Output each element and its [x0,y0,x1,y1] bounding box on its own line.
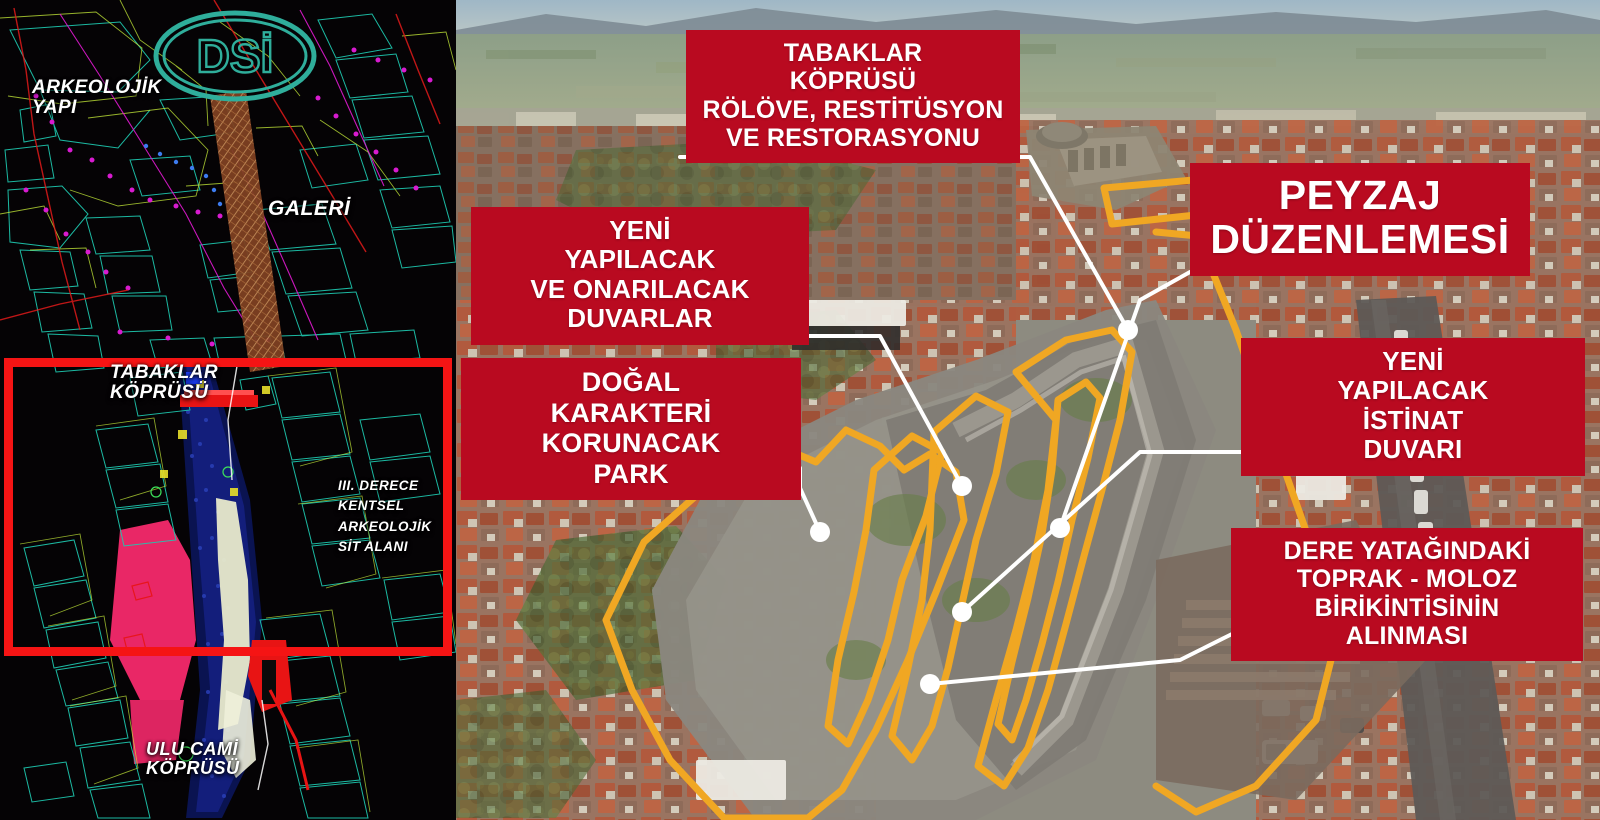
cad-label-sit-alani: III. DERECE KENTSEL ARKEOLOJİK SİT ALANI [338,476,432,557]
dsi-logo-text: DSİ [197,30,274,82]
presentation-slide: ARKEOLOJİK YAPI GALERİ TABAKLAR KÖPRÜSÜ … [0,0,1600,820]
cad-label-ulu-cami-koprusu: ULU CAMİ KÖPRÜSÜ [146,740,240,777]
callout-dere-moloz-alinmasi[interactable]: DERE YATAĞINDAKİ TOPRAK - MOLOZ BİRİKİNT… [1231,528,1583,661]
callout-yeni-onarilacak-duvarlar[interactable]: YENİ YAPILACAK VE ONARILACAK DUVARLAR [471,207,809,345]
cad-label-arkeolojik-yapi: ARKEOLOJİK YAPI [32,78,162,118]
callout-dogal-karakter-park[interactable]: DOĞAL KARAKTERİ KORUNACAK PARK [461,358,801,500]
callout-peyzaj-duzenlemesi[interactable]: PEYZAJ DÜZENLEMESİ [1190,163,1530,276]
callout-yeni-istinat-duvari[interactable]: YENİ YAPILACAK İSTİNAT DUVARI [1241,338,1585,476]
cad-label-galeri: GALERİ [268,198,350,220]
cad-site-plan-panel: ARKEOLOJİK YAPI GALERİ TABAKLAR KÖPRÜSÜ … [0,0,456,820]
dsi-logo: DSİ [152,10,318,102]
callout-tabaklar-restorasyon[interactable]: TABAKLAR KÖPRÜSÜ RÖLÖVE, RESTİTÜSYON VE … [686,30,1020,163]
cad-label-tabaklar-koprusu: TABAKLAR KÖPRÜSÜ [110,363,218,403]
